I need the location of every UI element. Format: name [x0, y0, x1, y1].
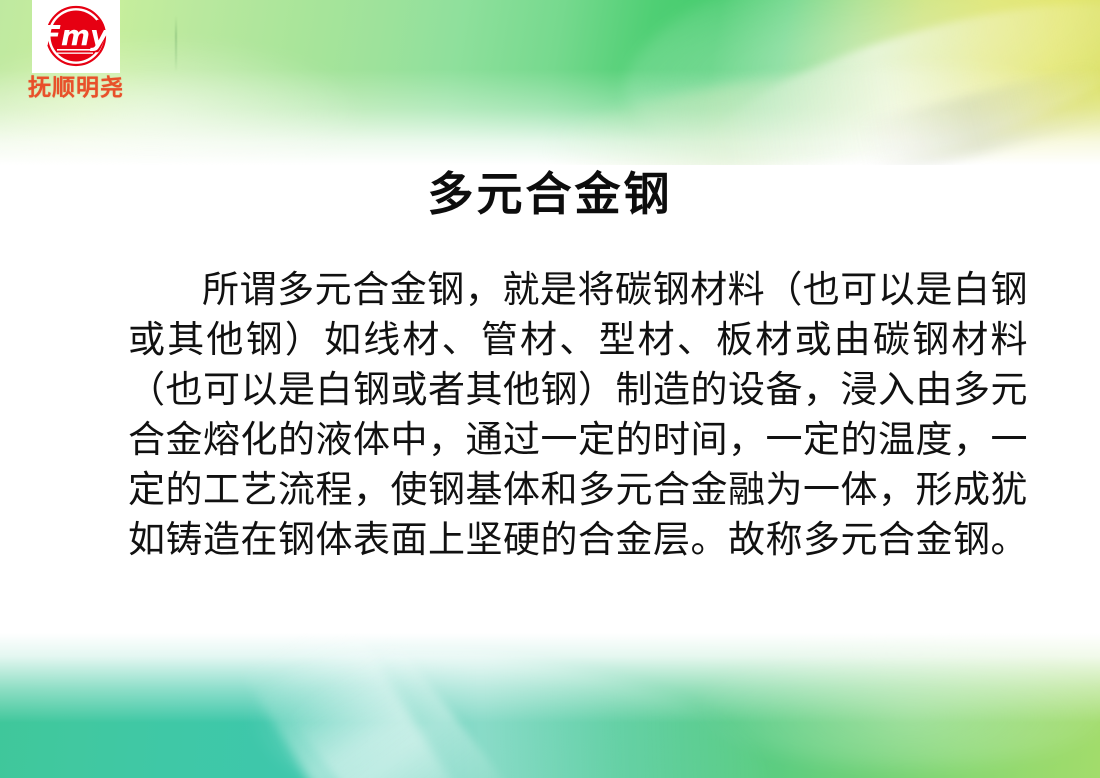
fmy-logo-icon: Fmy [32, 0, 120, 73]
body-paragraph: 所谓多元合金钢，就是将碳钢材料（也可以是白钢或其他钢）如线材、管材、型材、板材或… [128, 265, 1028, 565]
company-logo: Fmy 抚顺明尧 [21, 0, 131, 102]
svg-text:Fmy: Fmy [42, 19, 110, 52]
slide-content: 多元合金钢 所谓多元合金钢，就是将碳钢材料（也可以是白钢或其他钢）如线材、管材、… [0, 0, 1100, 778]
body-copy: 所谓多元合金钢，就是将碳钢材料（也可以是白钢或其他钢）如线材、管材、型材、板材或… [128, 265, 1028, 565]
company-name-label: 抚顺明尧 [21, 76, 131, 102]
page-title: 多元合金钢 [0, 168, 1100, 221]
slide: Fmy 抚顺明尧 多元合金钢 所谓多元合金钢，就是将碳钢材料（也可以是白钢或其他… [0, 0, 1100, 778]
